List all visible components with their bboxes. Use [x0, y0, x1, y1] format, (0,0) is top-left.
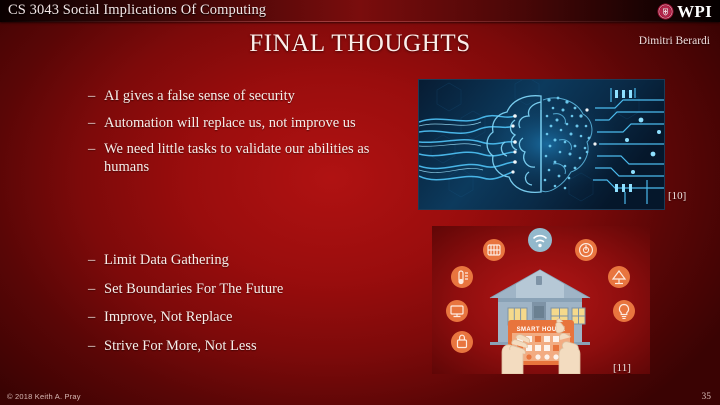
- list-item-label: AI gives a false sense of security: [104, 88, 408, 106]
- bullet-marker: –: [88, 281, 104, 299]
- course-title: CS 3043 Social Implications Of Computing: [8, 2, 266, 19]
- wpi-wordmark: WPI: [677, 3, 712, 20]
- wpi-logo: WPI: [657, 1, 712, 21]
- bullet-marker: –: [88, 88, 104, 106]
- radiator-icon: [483, 239, 505, 261]
- wpi-seal-icon: [657, 3, 674, 20]
- list-item-label: Automation will replace us, not improve …: [104, 115, 408, 133]
- wifi-icon: [528, 228, 552, 252]
- list-item: – Set Boundaries For The Future: [88, 281, 408, 299]
- slide-header-bar: CS 3043 Social Implications Of Computing…: [0, 0, 720, 22]
- bullet-marker: –: [88, 252, 104, 270]
- ai-brain-circuit-image: [418, 79, 665, 210]
- list-item-label: Strive For More, Not Less: [104, 338, 408, 356]
- slide-canvas: CS 3043 Social Implications Of Computing…: [0, 0, 720, 405]
- presenter-name: Dimitri Berardi: [639, 35, 710, 47]
- bullet-marker: –: [88, 338, 104, 356]
- bullet-list-primary: – AI gives a false sense of security – A…: [88, 88, 408, 186]
- bullet-list-secondary: – Limit Data Gathering – Set Boundaries …: [88, 252, 408, 367]
- slide-title: FINAL THOUGHTS: [0, 30, 720, 58]
- monitor-icon: [446, 300, 468, 322]
- list-item: – AI gives a false sense of security: [88, 88, 408, 106]
- list-item: – Automation will replace us, not improv…: [88, 115, 408, 133]
- list-item: – Improve, Not Replace: [88, 309, 408, 327]
- bullet-marker: –: [88, 309, 104, 327]
- image-citation: [10]: [668, 190, 686, 202]
- copyright-notice: © 2018 Keith A. Pray: [7, 392, 81, 401]
- list-item-label: Set Boundaries For The Future: [104, 281, 408, 299]
- list-item: – We need little tasks to validate our a…: [88, 141, 408, 176]
- smart-house-image: SMART HOUSE: [432, 226, 650, 374]
- list-item-label: We need little tasks to validate our abi…: [104, 141, 408, 176]
- lock-icon: [451, 331, 473, 353]
- bullet-marker: –: [88, 141, 104, 159]
- list-item-label: Improve, Not Replace: [104, 309, 408, 327]
- list-item: – Limit Data Gathering: [88, 252, 408, 270]
- image-citation: [11]: [613, 362, 631, 374]
- thermostat-icon: [575, 239, 597, 261]
- list-item-label: Limit Data Gathering: [104, 252, 408, 270]
- temperature-gauge-icon: [451, 266, 473, 288]
- lightbulb-icon: [613, 300, 635, 322]
- slide-number: 35: [702, 392, 712, 402]
- bullet-marker: –: [88, 115, 104, 133]
- lamp-icon: [608, 266, 630, 288]
- list-item: – Strive For More, Not Less: [88, 338, 408, 356]
